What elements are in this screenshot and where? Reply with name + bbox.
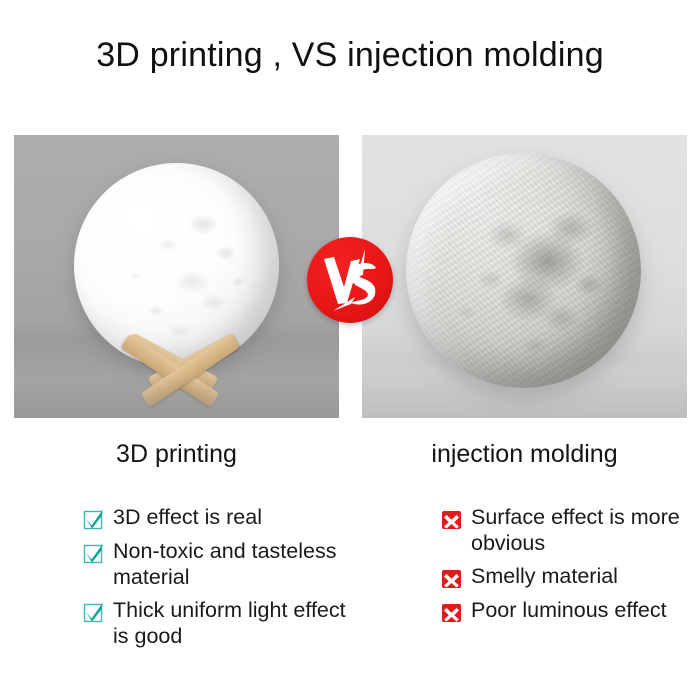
product-panel-injection-molding — [362, 135, 687, 418]
wooden-stand — [110, 340, 250, 418]
list-item: Poor luminous effect — [440, 597, 698, 624]
rough-sphere-image — [406, 153, 641, 388]
page-title: 3D printing , VS injection molding — [0, 36, 700, 75]
list-item: Surface effect is more obvious — [440, 504, 698, 556]
moon-shading — [74, 163, 279, 368]
list-item: Non-toxic and tasteless material — [82, 538, 352, 590]
white-moon-lamp-image — [74, 163, 279, 368]
product-photo-injection-molding — [362, 135, 687, 418]
list-item: 3D effect is real — [82, 504, 352, 531]
product-panel-3d-printing — [14, 135, 339, 418]
list-item-label: Thick uniform light effect is good — [113, 597, 352, 649]
feature-list-injection-molding: Surface effect is more obvious Smelly ma… — [440, 504, 698, 631]
list-item-label: Non-toxic and tasteless material — [113, 538, 352, 590]
list-item: Thick uniform light effect is good — [82, 597, 352, 649]
caption-3d-printing: 3D printing — [14, 440, 339, 469]
check-icon — [82, 508, 105, 531]
caption-injection-molding: injection molding — [362, 440, 687, 469]
list-item-label: Poor luminous effect — [471, 597, 667, 623]
check-icon — [82, 601, 105, 624]
list-item: Smelly material — [440, 563, 698, 590]
check-icon — [82, 542, 105, 565]
list-item-label: Smelly material — [471, 563, 618, 589]
feature-list-3d-printing: 3D effect is real Non-toxic and tasteles… — [82, 504, 352, 656]
vs-badge-icon — [307, 237, 393, 323]
sphere-shading — [406, 153, 641, 388]
list-item-label: Surface effect is more obvious — [471, 504, 698, 556]
cross-icon — [440, 601, 463, 624]
list-item-label: 3D effect is real — [113, 504, 262, 530]
product-photo-3d-printing — [14, 135, 339, 418]
cross-icon — [440, 508, 463, 531]
cross-icon — [440, 567, 463, 590]
